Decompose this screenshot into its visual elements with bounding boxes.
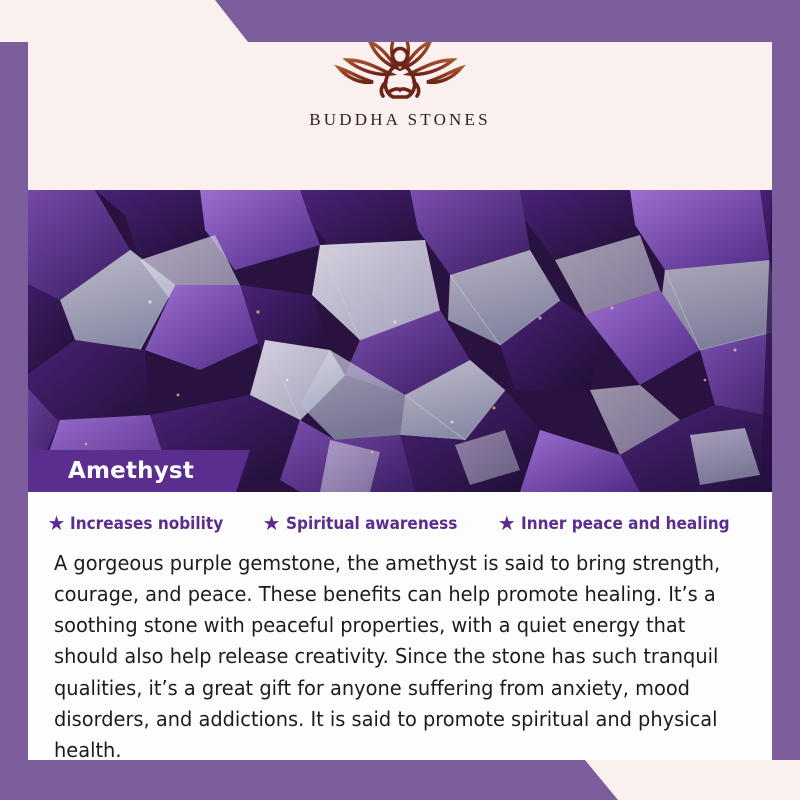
star-icon: ★	[47, 514, 65, 534]
stone-name-banner: Amethyst	[28, 450, 250, 492]
feature-label-2: Spiritual awareness	[286, 514, 457, 534]
amethyst-photo	[0, 190, 800, 492]
feature-item-3: ★ Inner peace and healing	[498, 514, 753, 534]
feature-label-1: Increases nobility	[70, 514, 223, 534]
feature-label-3: Inner peace and healing	[521, 514, 730, 534]
brand-name: BUDDHA STONES	[309, 110, 491, 130]
content-card: ★ Increases nobility ★ Spiritual awarene…	[28, 492, 772, 760]
star-icon: ★	[498, 514, 516, 534]
amethyst-crystal-cluster-illustration	[0, 190, 800, 492]
feature-list: ★ Increases nobility ★ Spiritual awarene…	[54, 514, 746, 534]
stone-name: Amethyst	[68, 458, 194, 484]
frame-left-band	[0, 42, 28, 800]
frame-right-band	[772, 0, 800, 800]
star-icon: ★	[263, 514, 281, 534]
feature-item-1: ★ Increases nobility	[47, 514, 240, 534]
stone-description: A gorgeous purple gemstone, the amethyst…	[54, 548, 741, 766]
feature-item-2: ★ Spiritual awareness	[263, 514, 476, 534]
infographic-poster: BUDDHA STONES Stone Features & Benefits	[0, 0, 800, 800]
